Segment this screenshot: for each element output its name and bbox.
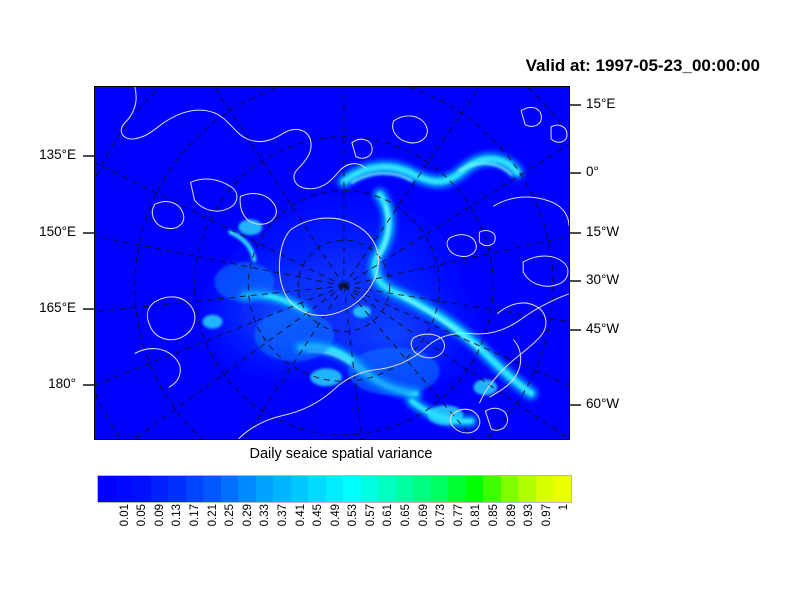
colorbar-tick-label: 0.49	[330, 504, 342, 526]
map-canvas	[95, 87, 569, 439]
colorbar-tick-label: 0.65	[400, 504, 412, 526]
colorbar-tick-label: 0.17	[189, 504, 201, 526]
colorbar-swatch	[98, 476, 116, 502]
colorbar-tick-label: 0.21	[207, 504, 219, 526]
figure-root: Valid at: 1997-05-23_00:00:00	[0, 0, 792, 612]
colorbar-swatch	[186, 476, 204, 502]
figure-caption-text: Daily seaice spatial variance	[250, 446, 433, 462]
axis-tick-right	[570, 280, 581, 282]
axis-tick-left	[83, 155, 94, 157]
colorbar-tick-label: 1	[558, 504, 570, 510]
colorbar-swatch	[133, 476, 151, 502]
colorbar-swatch	[238, 476, 256, 502]
colorbar-tick-label: 0.53	[347, 504, 359, 526]
colorbar-swatch	[466, 476, 484, 502]
colorbar-swatch	[168, 476, 186, 502]
colorbar-tick-label: 0.89	[506, 504, 518, 526]
axis-label-right: 0°	[586, 165, 599, 179]
figure-caption: Daily seaice spatial variance	[0, 446, 792, 462]
colorbar-swatch	[361, 476, 379, 502]
colorbar-swatch	[116, 476, 134, 502]
axis-label-left: 150°E	[39, 225, 76, 239]
colorbar-tick-label: 0.05	[136, 504, 148, 526]
colorbar-swatch	[518, 476, 536, 502]
axis-tick-left	[83, 232, 94, 234]
colorbar-swatch	[203, 476, 221, 502]
axis-label-right: 15°E	[586, 97, 615, 111]
map-panel[interactable]	[94, 86, 570, 440]
colorbar[interactable]	[97, 475, 572, 503]
colorbar-tick-label: 0.37	[277, 504, 289, 526]
axis-label-right: 15°W	[586, 225, 619, 239]
colorbar-swatch	[501, 476, 519, 502]
colorbar-tick-label: 0.25	[224, 504, 236, 526]
colorbar-swatch	[413, 476, 431, 502]
colorbar-tick-label: 0.01	[119, 504, 131, 526]
colorbar-swatch	[308, 476, 326, 502]
axis-tick-right	[570, 404, 581, 406]
colorbar-swatch	[273, 476, 291, 502]
colorbar-tick-label: 0.57	[365, 504, 377, 526]
axis-tick-left	[83, 308, 94, 310]
colorbar-gradient	[97, 475, 572, 503]
colorbar-tick-label: 0.73	[435, 504, 447, 526]
colorbar-swatch	[256, 476, 274, 502]
colorbar-tick-label: 0.13	[171, 504, 183, 526]
axis-label-left: 165°E	[39, 301, 76, 315]
colorbar-tick-label: 0.93	[523, 504, 535, 526]
colorbar-tick-label: 0.09	[154, 504, 166, 526]
axis-label-right: 30°W	[586, 273, 619, 287]
axis-tick-right	[570, 172, 581, 174]
colorbar-tick-label: 0.45	[312, 504, 324, 526]
colorbar-swatch	[343, 476, 361, 502]
colorbar-swatch	[483, 476, 501, 502]
colorbar-tick-label: 0.85	[488, 504, 500, 526]
axis-label-left: 135°E	[39, 148, 76, 162]
colorbar-tick-label: 0.41	[295, 504, 307, 526]
colorbar-tick-label: 0.29	[242, 504, 254, 526]
axis-label-right: 45°W	[586, 322, 619, 336]
colorbar-swatch	[431, 476, 449, 502]
colorbar-tick-label: 0.81	[470, 504, 482, 526]
colorbar-swatch	[151, 476, 169, 502]
colorbar-swatch	[448, 476, 466, 502]
colorbar-tick-labels: 0.010.050.090.130.170.210.250.290.330.37…	[97, 504, 572, 574]
colorbar-tick-label: 0.33	[259, 504, 271, 526]
colorbar-tick-label: 0.77	[453, 504, 465, 526]
axis-label-right: 60°W	[586, 397, 619, 411]
axis-tick-right	[570, 329, 581, 331]
colorbar-tick-label: 0.61	[382, 504, 394, 526]
axis-label-left: 180°	[48, 377, 76, 391]
colorbar-tick-label: 0.69	[418, 504, 430, 526]
colorbar-swatch	[553, 476, 571, 502]
colorbar-swatch	[221, 476, 239, 502]
colorbar-swatch	[378, 476, 396, 502]
colorbar-swatch	[326, 476, 344, 502]
page-title: Valid at: 1997-05-23_00:00:00	[526, 56, 760, 76]
colorbar-swatch	[396, 476, 414, 502]
colorbar-swatch	[536, 476, 554, 502]
colorbar-tick-label: 0.97	[541, 504, 553, 526]
axis-tick-right	[570, 232, 581, 234]
colorbar-swatch	[291, 476, 309, 502]
axis-tick-right	[570, 104, 581, 106]
axis-tick-left	[83, 384, 94, 386]
